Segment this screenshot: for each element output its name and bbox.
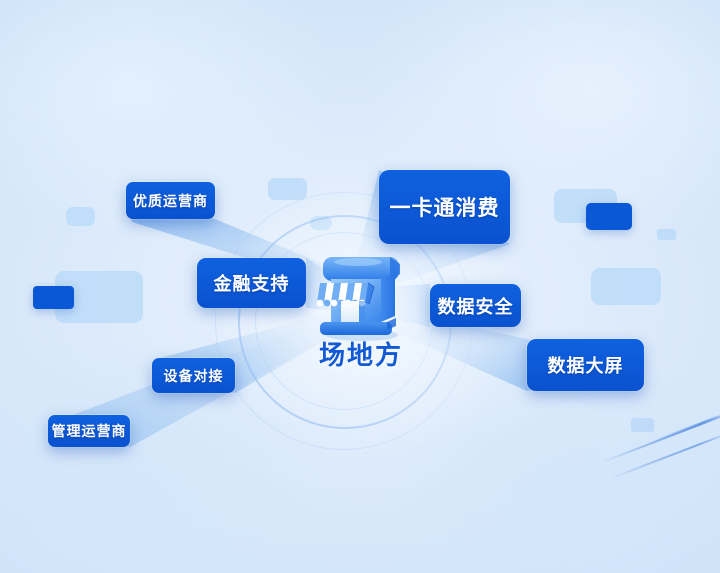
card-quality-operator[interactable]: 优质运营商 bbox=[126, 182, 215, 219]
card-one-card-payment[interactable]: 一卡通消费 bbox=[379, 170, 510, 244]
storefront-icon bbox=[306, 243, 416, 343]
card-device-integration[interactable]: 设备对接 bbox=[152, 358, 235, 393]
deco-rect-soft-4 bbox=[310, 216, 332, 230]
streak-line-1 bbox=[600, 408, 720, 464]
card-management-operator[interactable]: 管理运营商 bbox=[48, 415, 130, 447]
deco-rect-solid-1 bbox=[33, 286, 74, 309]
deco-rect-soft-6 bbox=[657, 229, 676, 240]
deco-rect-soft-1 bbox=[66, 207, 95, 226]
deco-rect-soft-7 bbox=[591, 268, 661, 305]
deco-rect-soft-3 bbox=[268, 178, 307, 200]
deco-rect-soft-2 bbox=[55, 271, 143, 323]
deco-rect-solid-2 bbox=[586, 203, 632, 230]
streak-line-3 bbox=[651, 412, 720, 443]
deco-rect-soft-8 bbox=[631, 418, 654, 432]
hub-label: 场地方 bbox=[296, 335, 426, 372]
deco-rect-soft-5 bbox=[554, 189, 617, 223]
card-data-security[interactable]: 数据安全 bbox=[430, 284, 521, 327]
streak-line-2 bbox=[609, 431, 720, 480]
infographic-canvas: 场地方 一卡通消费 金融支持 优质运营商 设备对接 管理运营商 数据安全 数据大… bbox=[0, 0, 720, 573]
card-financial-support[interactable]: 金融支持 bbox=[197, 258, 306, 308]
card-data-dashboard[interactable]: 数据大屏 bbox=[527, 339, 644, 391]
